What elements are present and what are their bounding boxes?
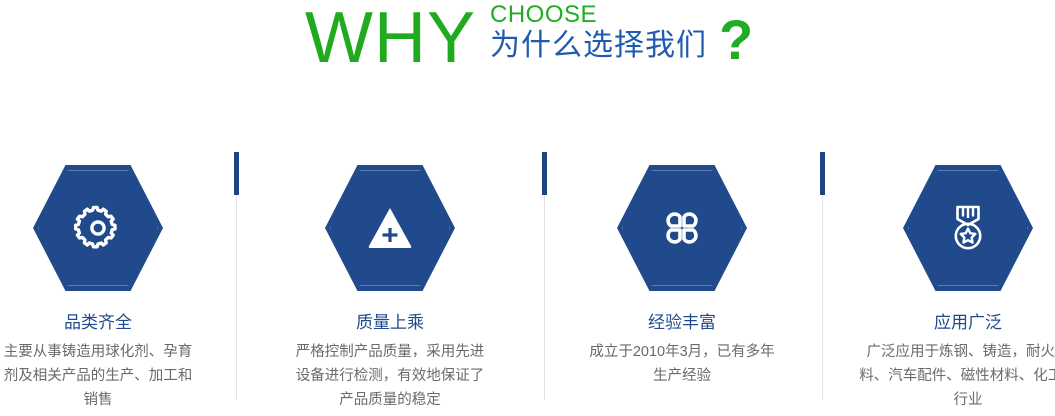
feature-cards-row: 品类齐全 主要从事铸造用球化剂、孕育剂及相关产品的生产、加工和销售 质量上乘 严… (0, 150, 1055, 416)
card-description: 主要从事铸造用球化剂、孕育剂及相关产品的生产、加工和销售 (0, 340, 233, 412)
hexagon-badge-2 (325, 165, 455, 291)
card-title: 经验丰富 (547, 312, 817, 334)
heading-choose: CHOOSE (490, 1, 707, 28)
feature-card-2[interactable]: 质量上乘 严格控制产品质量，采用先进设备进行检测，有效地保证了产品质量的稳定 (255, 150, 525, 412)
card-description: 广泛应用于炼钢、铸造，耐火材料、汽车配件、磁性材料、化工等行业 (833, 340, 1055, 412)
section-header: WHY CHOOSE 为什么选择我们 ? (0, 0, 1055, 96)
card-title: 质量上乘 (255, 312, 525, 334)
heading-question-mark: ? (719, 12, 753, 68)
gear-icon (33, 165, 163, 291)
feature-card-1[interactable]: 品类齐全 主要从事铸造用球化剂、孕育剂及相关产品的生产、加工和销售 (0, 150, 233, 412)
hexagon-badge-3 (617, 165, 747, 291)
triangle-plus-icon (325, 165, 455, 291)
card-description: 严格控制产品质量，采用先进设备进行检测，有效地保证了产品质量的稳定 (255, 340, 525, 412)
feature-card-4[interactable]: 应用广泛 广泛应用于炼钢、铸造，耐火材料、汽车配件、磁性材料、化工等行业 (833, 150, 1055, 412)
heading-why: WHY (305, 2, 476, 74)
four-petal-clover-icon (617, 165, 747, 291)
medal-star-icon (903, 165, 1033, 291)
hexagon-badge-4 (903, 165, 1033, 291)
feature-card-3[interactable]: 经验丰富 成立于2010年3月，已有多年生产经验 (547, 150, 817, 388)
heading-chinese-subtitle: 为什么选择我们 (490, 28, 707, 64)
heading-text-stack: CHOOSE 为什么选择我们 (490, 1, 707, 64)
header-inner: WHY CHOOSE 为什么选择我们 ? (305, 0, 753, 74)
card-title: 应用广泛 (833, 312, 1055, 334)
card-description: 成立于2010年3月，已有多年生产经验 (547, 340, 817, 388)
card-title: 品类齐全 (0, 312, 233, 334)
hexagon-badge-1 (33, 165, 163, 291)
